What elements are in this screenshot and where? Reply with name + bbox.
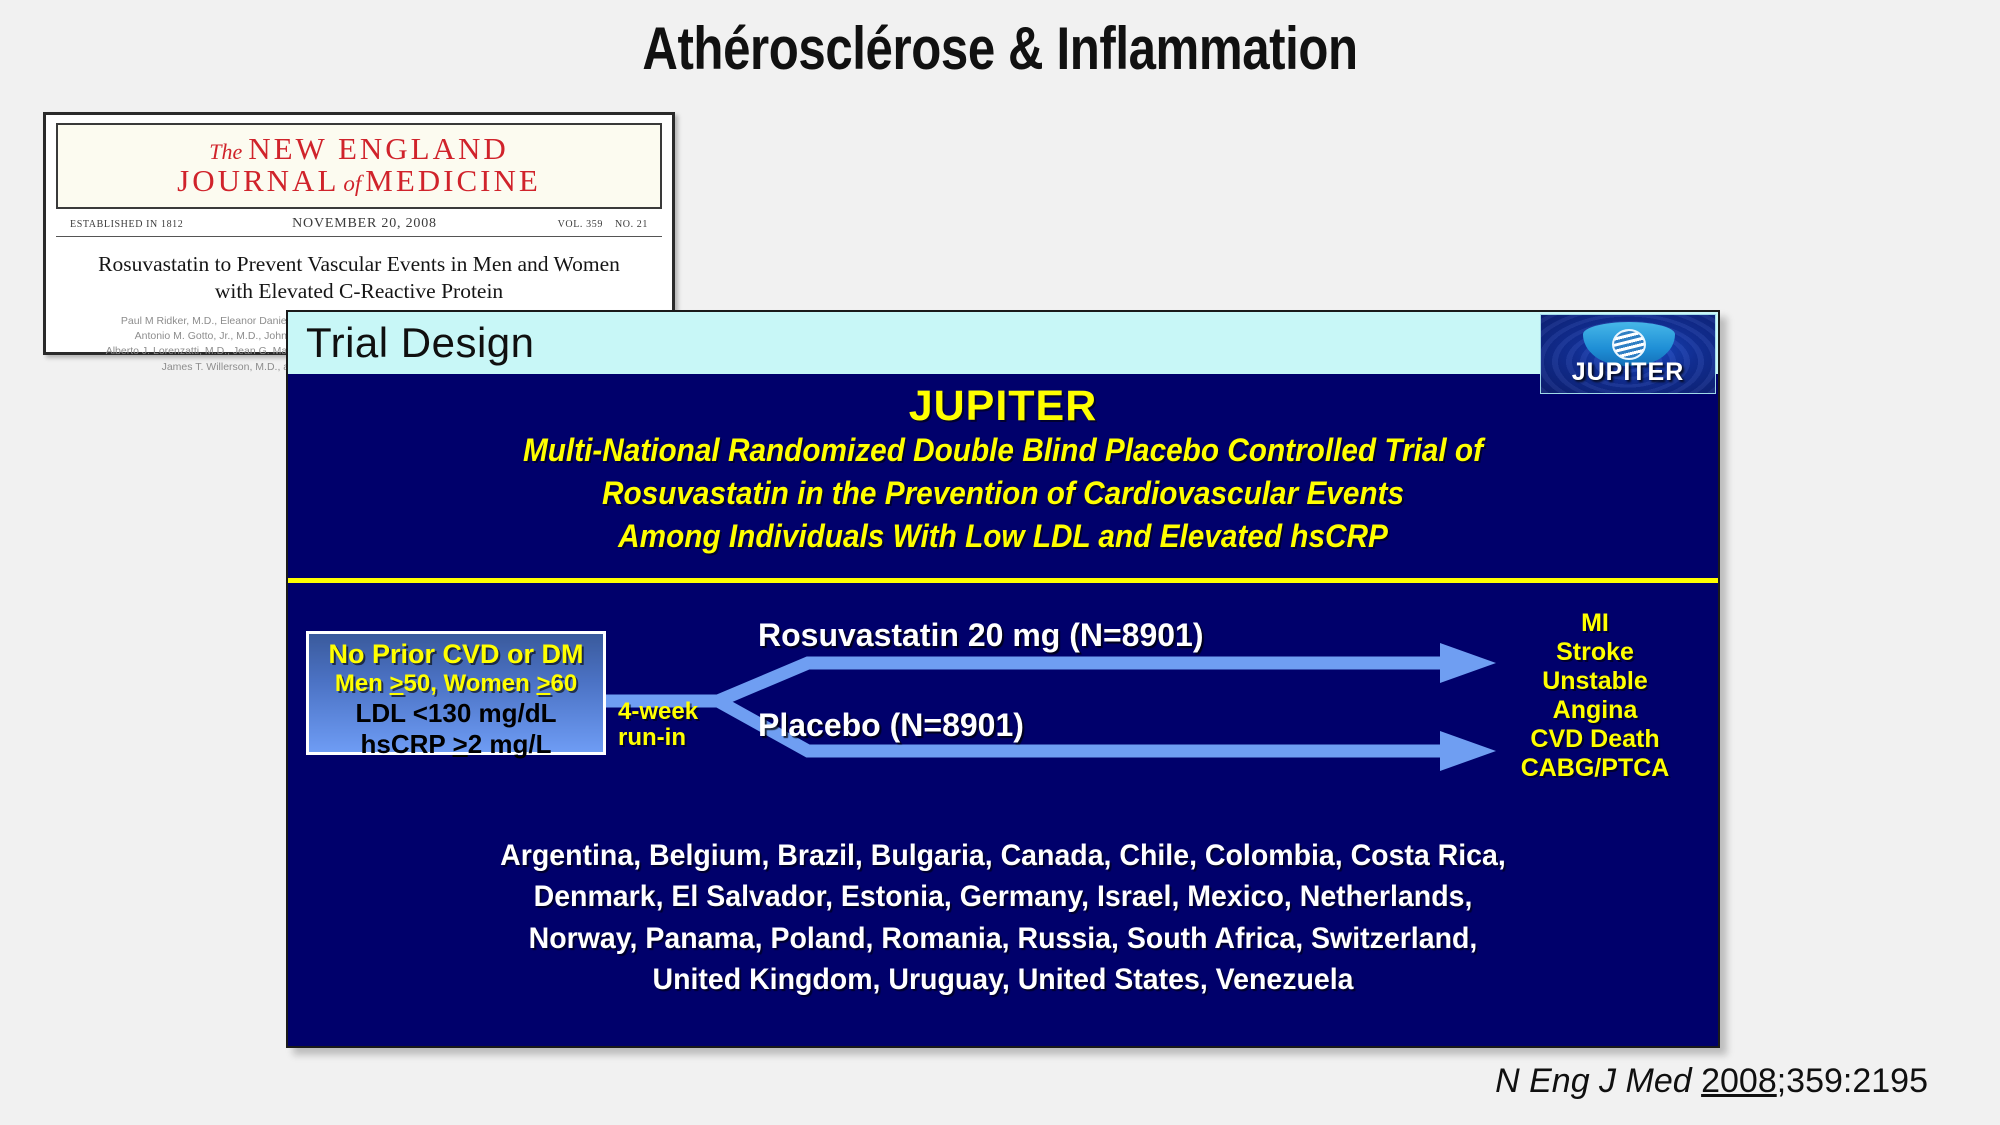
nejm-masthead-line2: JOURNALofMEDICINE [62,165,656,197]
arm-label-placebo: Placebo (N=8901) [758,707,1024,744]
trial-flow-diagram: No Prior CVD or DM Men >50, Women >60 LD… [288,609,1718,819]
jupiter-trial-design-slide: Trial Design JUPITER JUPITER Multi-Natio… [286,310,1720,1048]
jupiter-logo-wordmark: JUPITER [1541,358,1715,387]
nejm-medicine-word: MEDICINE [365,163,541,198]
criteria-men-operator: > [390,670,404,697]
slide-subtitle-line3: Among Individuals With Low LDL and Eleva… [338,515,1668,558]
criteria-hscrp-value: 2 mg/L [468,729,552,759]
outcomes-list: MI Stroke Unstable Angina CVD Death CABG… [1480,609,1710,783]
slide-subtitle-line2: Rosuvastatin in the Prevention of Cardio… [338,472,1668,515]
criteria-women-label: 50, Women [404,670,537,697]
jupiter-planet-icon [1612,329,1646,360]
countries-line: Denmark, El Salvador, Estonia, Germany, … [358,876,1648,917]
citation-journal: N Eng J Med [1495,1062,1701,1100]
run-in-label: 4-week run-in [618,699,698,752]
criteria-line-3: LDL <130 mg/dL [309,698,603,729]
participating-countries: Argentina, Belgium, Brazil, Bulgaria, Ca… [324,835,1683,1001]
nejm-of-word: of [339,171,365,196]
nejm-issue-date: NOVEMBER 20, 2008 [292,216,437,232]
slide-header: Trial Design JUPITER [288,312,1718,374]
criteria-women-operator: > [536,670,550,697]
nejm-article-title: Rosuvastatin to Prevent Vascular Events … [56,251,662,303]
entry-criteria-box: No Prior CVD or DM Men >50, Women >60 LD… [306,631,606,755]
nejm-journal-word: JOURNAL [177,163,339,198]
slide-subtitle-line1: Multi-National Randomized Double Blind P… [338,429,1668,472]
nejm-volume: VOL. 359 [546,219,603,230]
slide-title-block: JUPITER Multi-National Randomized Double… [288,374,1718,572]
citation-year: 2008 [1701,1062,1777,1100]
criteria-line-4: hsCRP >2 mg/L [309,729,603,760]
nejm-the-word: The [209,139,248,164]
outcome-item: Stroke [1480,638,1710,667]
criteria-line-1: No Prior CVD or DM [309,639,603,670]
nejm-volume-number: VOL. 359NO. 21 [546,219,648,230]
criteria-women-age: 60 [550,670,577,697]
outcome-item: CVD Death [1480,725,1710,754]
countries-line: Norway, Panama, Poland, Romania, Russia,… [358,918,1648,959]
slide-title-main: JUPITER [288,384,1718,429]
nejm-masthead-line1: TheNEW ENGLAND [62,133,656,165]
slide-header-title: Trial Design [288,319,535,367]
outcome-item: Angina [1480,696,1710,725]
criteria-line-2: Men >50, Women >60 [309,670,603,698]
citation: N Eng J Med 2008;359:2195 [1495,1062,1928,1101]
citation-locator: ;359:2195 [1777,1062,1928,1100]
jupiter-logo: JUPITER [1540,314,1716,394]
page-title: Athérosclérose & Inflammation [180,14,1820,83]
criteria-hscrp-label: hsCRP [361,729,453,759]
nejm-article-title-line2: with Elevated C-Reactive Protein [56,278,662,304]
run-in-line1: 4-week [618,699,698,725]
nejm-new-england: NEW ENGLAND [248,131,509,166]
outcome-item: MI [1480,609,1710,638]
countries-line: Argentina, Belgium, Brazil, Bulgaria, Ca… [358,835,1648,876]
outcome-item: CABG/PTCA [1480,754,1710,783]
arm-label-rosuvastatin: Rosuvastatin 20 mg (N=8901) [758,617,1204,654]
upper-branch-line [718,663,1448,701]
nejm-established: ESTABLISHED IN 1812 [70,219,183,230]
run-in-line2: run-in [618,725,698,751]
nejm-article-title-line1: Rosuvastatin to Prevent Vascular Events … [56,251,662,277]
outcome-item: Unstable [1480,667,1710,696]
nejm-issue-bar: ESTABLISHED IN 1812 NOVEMBER 20, 2008 VO… [56,211,662,237]
criteria-men-label: Men [335,670,390,697]
nejm-number: NO. 21 [603,219,648,230]
yellow-divider [288,578,1718,583]
criteria-hscrp-operator: > [453,729,468,759]
nejm-masthead: TheNEW ENGLAND JOURNALofMEDICINE [56,123,662,209]
countries-line: United Kingdom, Uruguay, United States, … [358,959,1648,1000]
